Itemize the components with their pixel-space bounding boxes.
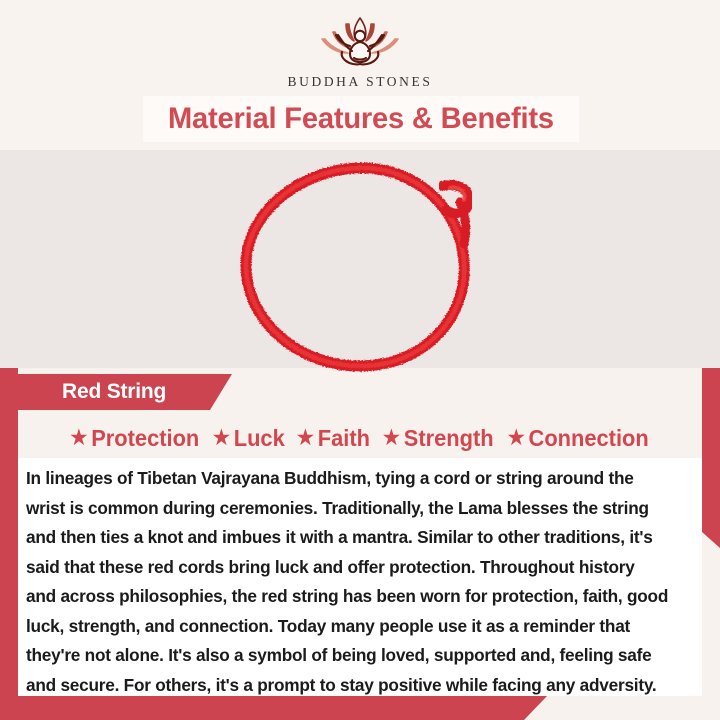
- benefit-item-protection: ★ Protection: [67, 425, 203, 452]
- benefit-label: Luck: [234, 425, 285, 452]
- product-tag-banner: Red String: [0, 374, 232, 410]
- star-icon: ★: [297, 428, 314, 448]
- product-image-section: [0, 150, 720, 368]
- brand-name: BUDDHA STONES: [0, 74, 720, 90]
- poster-root: BUDDHA STONES Material Features & Benefi…: [0, 0, 720, 720]
- lotus-meditation-icon: [308, 14, 412, 72]
- benefit-label: Connection: [529, 425, 649, 452]
- page-title: Material Features & Benefits: [143, 96, 579, 142]
- star-icon: ★: [508, 428, 525, 448]
- star-icon: ★: [71, 428, 88, 448]
- benefit-item-connection: ★ Connection: [504, 425, 653, 452]
- red-string-bracelet-image: [228, 158, 490, 380]
- product-tag-label: Red String: [62, 380, 166, 404]
- benefit-label: Protection: [92, 425, 200, 452]
- star-icon: ★: [213, 428, 230, 448]
- benefit-label: Faith: [317, 425, 369, 452]
- description-text: In lineages of Tibetan Vajrayana Buddhis…: [26, 464, 669, 700]
- star-icon: ★: [383, 428, 400, 448]
- benefit-item-strength: ★ Strength: [379, 425, 497, 452]
- page-title-text: Material Features & Benefits: [168, 102, 554, 136]
- header-section: BUDDHA STONES Material Features & Benefi…: [0, 0, 720, 150]
- benefit-item-luck: ★ Luck: [209, 425, 288, 452]
- description-panel: In lineages of Tibetan Vajrayana Buddhis…: [18, 458, 702, 696]
- benefit-item-faith: ★ Faith: [293, 425, 374, 452]
- benefits-list: ★ Protection ★ Luck ★ Faith ★ Strength ★…: [18, 420, 702, 456]
- brand-logo: BUDDHA STONES: [0, 14, 720, 90]
- benefit-label: Strength: [403, 425, 493, 452]
